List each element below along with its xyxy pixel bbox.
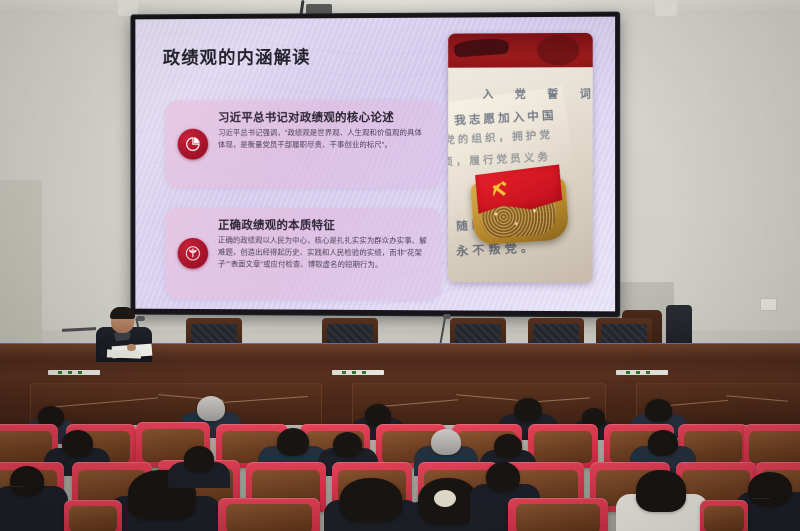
slide-card-essential-features[interactable]: 正确政绩观的本质特征 正确的政绩观以人民为中心，核心是扎扎实实为群众办实事、解难… <box>165 208 441 301</box>
seat[interactable] <box>218 498 320 531</box>
attendee-head <box>333 432 362 457</box>
sprout-icon <box>178 238 209 269</box>
presenter-hand <box>127 344 136 351</box>
attendee-head <box>645 399 672 422</box>
glasses-icon <box>10 486 23 490</box>
hammer-sickle-icon <box>488 178 512 202</box>
microphone-head-2 <box>443 314 451 319</box>
attendee-head <box>197 396 225 421</box>
presentation-screen[interactable]: 政绩观的内涵解读 习近平总书记对政绩观的核心论述 习近平总书记强调，"政绩观是世… <box>135 17 615 312</box>
slide-card-core-discourse[interactable]: 习近平总书记对政绩观的核心论述 习近平总书记强调，"政绩观是世界观、人生观和价值… <box>165 100 441 188</box>
photo-red-backdrop <box>448 33 593 72</box>
screen-mount-right <box>655 0 677 16</box>
seat[interactable] <box>508 498 608 531</box>
attendee-head <box>486 462 520 492</box>
slide-title: 政绩观的内涵解读 <box>163 44 311 69</box>
pie-chart-icon <box>178 129 209 160</box>
attendee-head <box>62 430 93 457</box>
dais-nameplate-2 <box>332 370 384 375</box>
presenter-hair <box>110 307 135 319</box>
microphone-head-1 <box>136 316 145 321</box>
oath-document-paper: 入 党 誓 词 我志愿加入中国 党的组织，拥护党 须，履行党员义务 随时准备为 … <box>448 67 593 283</box>
party-badge <box>472 166 569 245</box>
attendee-head <box>514 398 542 422</box>
left-wall-panel <box>0 180 42 365</box>
attendee-head <box>636 470 686 512</box>
hair-scrunchie <box>434 490 456 507</box>
dais-nameplate-3 <box>616 370 668 375</box>
led-display-bezel: 政绩观的内涵解读 习近平总书记对政绩观的核心论述 习近平总书记强调，"政绩观是世… <box>130 12 620 318</box>
attendee-head <box>277 428 309 456</box>
attendee-head <box>431 429 461 455</box>
dais-nameplate-1 <box>48 370 100 375</box>
card-heading: 正确政绩观的本质特征 <box>218 217 335 233</box>
seat[interactable] <box>64 500 122 531</box>
card-body-text: 习近平总书记强调，"政绩观是世界观、人生观和价值观的具体体现，是衡量党员干部履职… <box>218 127 429 151</box>
attendee-head <box>494 434 522 458</box>
conference-room-photo: 政绩观的内涵解读 习近平总书记对政绩观的核心论述 习近平总书记强调，"政绩观是世… <box>0 0 800 531</box>
photo-dark-shape-b <box>537 35 580 65</box>
attendee-head <box>648 430 678 456</box>
wall-outlet <box>760 298 777 311</box>
attendee-head <box>10 466 44 496</box>
card-body-text: 正确的政绩观以人民为中心，核心是扎扎实实为群众办实事、解难题，创造出经得起历史、… <box>218 235 429 272</box>
oath-line-0: 入 党 誓 词 <box>482 85 592 101</box>
party-emblem-badge-photo: 入 党 誓 词 我志愿加入中国 党的组织，拥护党 须，履行党员义务 随时准备为 … <box>448 33 593 283</box>
seat[interactable] <box>700 500 748 531</box>
presenter-documents-2 <box>107 349 141 358</box>
attendee-head <box>184 446 214 472</box>
attendee-head <box>365 404 391 426</box>
card-heading: 习近平总书记对政绩观的核心论述 <box>218 109 394 125</box>
glasses-icon <box>752 498 770 502</box>
attendee-head <box>340 478 402 522</box>
photo-dark-shape-a <box>454 37 509 57</box>
